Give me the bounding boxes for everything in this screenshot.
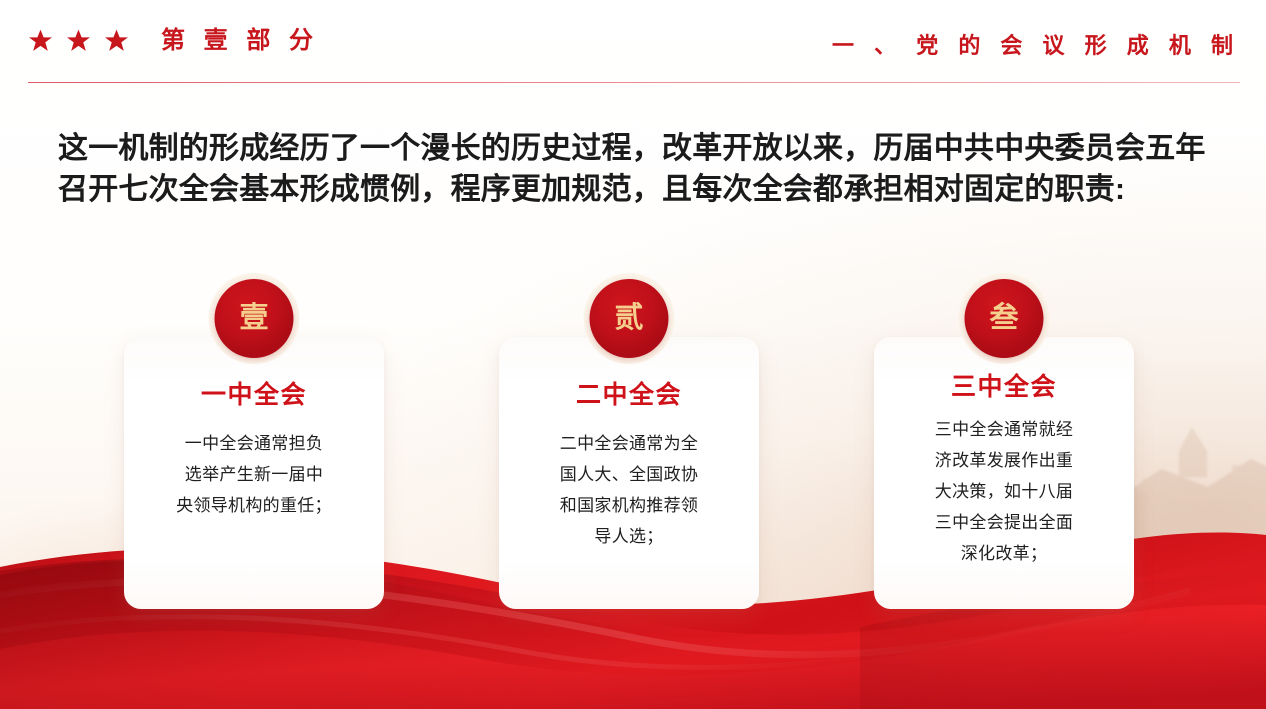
slide-header: 第 壹 部 分 一 、 党 的 会 议 形 成 机 制 [0, 0, 1266, 88]
card-badge-number: 贰 [614, 304, 643, 333]
card-title: 一中全会 [140, 383, 368, 408]
card-text-line: 三中全会提出全面 [890, 507, 1118, 538]
card-text-line: 导人选； [515, 521, 743, 552]
card-text-line: 大决策，如十八届 [890, 476, 1118, 507]
card-panel[interactable]: 一中全会 一中全会通常担负 选举产生新一届中 央领导机构的重任； [124, 337, 384, 609]
card-item[interactable]: 壹 一中全会 一中全会通常担负 选举产生新一届中 央领导机构的重任； [124, 273, 384, 609]
card-badge-number: 壹 [239, 304, 268, 333]
card-text-line: 深化改革； [890, 538, 1118, 569]
star-icon [28, 28, 53, 53]
star-icon [66, 28, 91, 53]
part-label: 第 壹 部 分 [161, 29, 319, 53]
card-badge-circle: 贰 [590, 279, 669, 358]
card-content: 一中全会 一中全会通常担负 选举产生新一届中 央领导机构的重任； [124, 337, 384, 521]
card-content: 二中全会 二中全会通常为全 国人大、全国政协 和国家机构推荐领 导人选； [499, 337, 759, 552]
slide-root: 第 壹 部 分 一 、 党 的 会 议 形 成 机 制 这一机制的形成经历了一个… [0, 0, 1266, 709]
card-text-line: 二中全会通常为全 [515, 428, 743, 459]
card-title: 二中全会 [515, 383, 743, 408]
card-badge: 壹 [209, 273, 300, 364]
card-text-line: 国人大、全国政协 [515, 459, 743, 490]
card-text-line: 选举产生新一届中 [140, 459, 368, 490]
star-group [28, 28, 129, 53]
card-badge: 叁 [959, 273, 1050, 364]
card-badge-number: 叁 [989, 304, 1018, 333]
intro-paragraph: 这一机制的形成经历了一个漫长的历史过程，改革开放以来，历届中共中央委员会五年召开… [58, 128, 1218, 210]
section-title: 一 、 党 的 会 议 形 成 机 制 [832, 35, 1240, 57]
card-item[interactable]: 叁 三中全会 三中全会通常就经 济改革发展作出重 大决策，如十八届 三中全会提出… [874, 273, 1134, 609]
card-text-line: 三中全会通常就经 [890, 414, 1118, 445]
header-left-group: 第 壹 部 分 [28, 28, 319, 53]
card-panel[interactable]: 三中全会 三中全会通常就经 济改革发展作出重 大决策，如十八届 三中全会提出全面… [874, 337, 1134, 609]
card-content: 三中全会 三中全会通常就经 济改革发展作出重 大决策，如十八届 三中全会提出全面… [874, 337, 1134, 569]
card-badge-circle: 壹 [215, 279, 294, 358]
header-divider [28, 82, 1240, 83]
card-group: 壹 一中全会 一中全会通常担负 选举产生新一届中 央领导机构的重任； 贰 [0, 273, 1266, 613]
card-title: 三中全会 [890, 375, 1118, 400]
card-text-line: 央领导机构的重任； [140, 490, 368, 521]
card-badge: 贰 [584, 273, 675, 364]
card-item[interactable]: 贰 二中全会 二中全会通常为全 国人大、全国政协 和国家机构推荐领 导人选； [499, 273, 759, 609]
star-icon [104, 28, 129, 53]
card-badge-circle: 叁 [965, 279, 1044, 358]
card-text-line: 一中全会通常担负 [140, 428, 368, 459]
card-text-line: 济改革发展作出重 [890, 445, 1118, 476]
card-panel[interactable]: 二中全会 二中全会通常为全 国人大、全国政协 和国家机构推荐领 导人选； [499, 337, 759, 609]
card-text-line: 和国家机构推荐领 [515, 490, 743, 521]
